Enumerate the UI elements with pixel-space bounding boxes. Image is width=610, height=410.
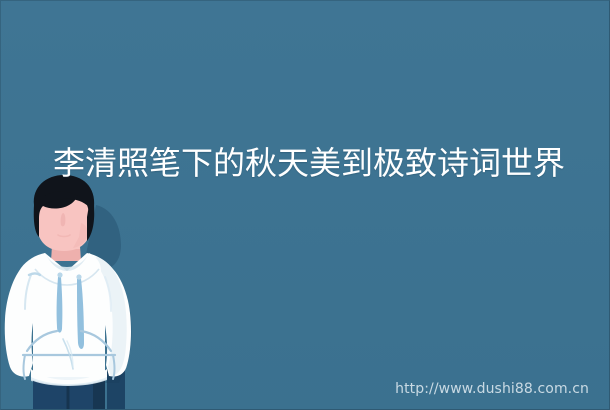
article-cover: 李清照笔下的秋天美到极致诗词世界 http://www.dushi88.com.… <box>0 0 610 410</box>
person-illustration <box>1 179 151 410</box>
hoodie <box>5 253 131 385</box>
watermark-url: http://www.dushi88.com.cn <box>395 381 589 397</box>
page-title: 李清照笔下的秋天美到极致诗词世界 <box>53 143 573 183</box>
